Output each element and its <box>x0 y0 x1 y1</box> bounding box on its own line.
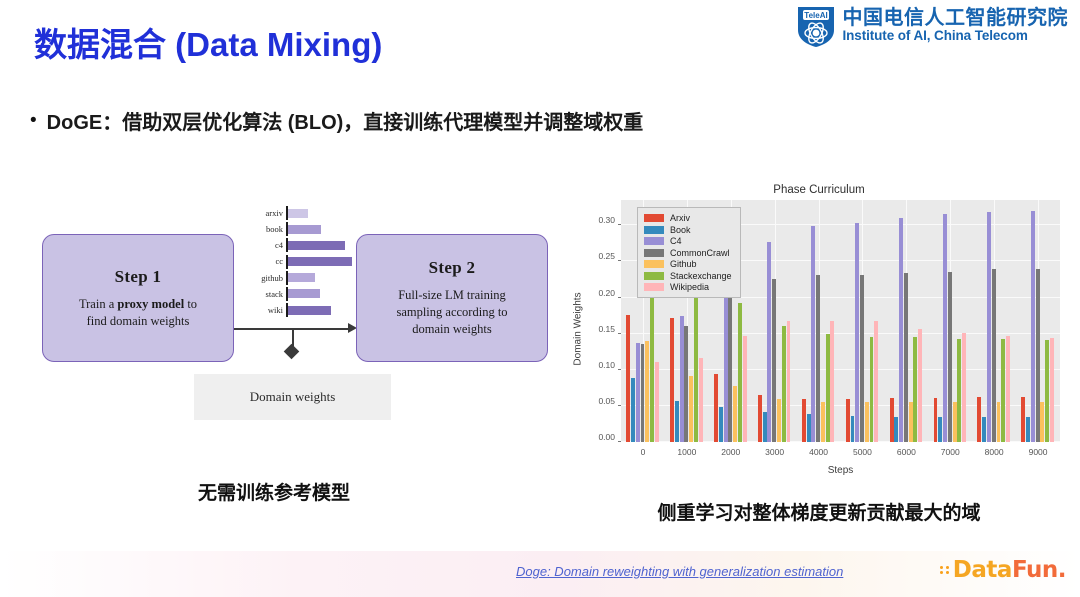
chart-bar <box>680 316 684 442</box>
chart-ytick-label: 0.05 <box>598 396 615 406</box>
mini-chart-row: github <box>241 271 353 285</box>
chart-legend: ArxivBookC4CommonCrawlGithubStackexchang… <box>637 207 741 298</box>
chart-bar <box>714 374 718 442</box>
chart-title: Phase Curriculum <box>566 184 1072 196</box>
chart-bar <box>645 341 649 442</box>
chart-legend-item: C4 <box>644 236 732 246</box>
mini-chart-row: cc <box>241 255 353 269</box>
chart-bar <box>957 339 961 442</box>
chart-legend-swatch <box>644 283 664 291</box>
mini-chart-label: c4 <box>241 241 286 250</box>
chart-bar-group <box>1016 200 1060 442</box>
step2-description: Full-size LM training sampling according… <box>386 287 517 338</box>
step2-line2: sampling according to <box>396 305 507 319</box>
chart-legend-label: Wikipedia <box>670 282 709 292</box>
chart-bar-group <box>884 200 928 442</box>
chart-xtick-label: 5000 <box>853 447 872 457</box>
chart-bar <box>962 333 966 442</box>
chart-bar <box>655 362 659 442</box>
step2-line1: Full-size LM training <box>398 288 506 302</box>
chart-xtick-label: 6000 <box>897 447 916 457</box>
chart-xtick-label: 4000 <box>809 447 828 457</box>
chart-ytick-label: 0.30 <box>598 215 615 225</box>
chart-xtick-label: 9000 <box>1029 447 1048 457</box>
chart-legend-item: Github <box>644 259 732 269</box>
chart-bar <box>860 275 864 442</box>
domain-weights-box: Domain weights <box>194 374 391 420</box>
brand-name-cn: 中国电信人工智能研究院 <box>843 8 1069 29</box>
chart-bar <box>636 343 640 442</box>
chart-bar <box>811 226 815 442</box>
chart-bar <box>1001 339 1005 442</box>
chart-bar <box>1006 336 1010 442</box>
chart-legend-label: Stackexchange <box>670 271 732 281</box>
chart-bar <box>846 399 850 442</box>
datafun-dots-icon <box>940 566 950 574</box>
chart-xtick-label: 7000 <box>941 447 960 457</box>
chart-xtick-label: 3000 <box>765 447 784 457</box>
chart-bar <box>733 386 737 442</box>
step1-title: Step 1 <box>115 267 162 287</box>
chart-ytick-label: 0.10 <box>598 360 615 370</box>
chart-plot-area: ArxivBookC4CommonCrawlGithubStackexchang… <box>621 200 1060 442</box>
chart-bar <box>904 273 908 442</box>
chart-bar-group <box>928 200 972 442</box>
chart-bar <box>1036 269 1040 442</box>
chart-bar <box>918 329 922 442</box>
chart-legend-swatch <box>644 260 664 268</box>
chart-legend-label: CommonCrawl <box>670 248 730 258</box>
mini-chart-row: book <box>241 222 353 236</box>
chart-bar <box>1050 338 1054 442</box>
chart-bar <box>743 336 747 442</box>
svg-text:TeleAI: TeleAI <box>804 11 827 20</box>
chart-ytick-label: 0.20 <box>598 288 615 298</box>
chart-bar <box>890 398 894 442</box>
brand-logo: TeleAI 中国电信人工智能研究院 Institute of AI, Chin… <box>796 4 1069 48</box>
chart-bar <box>631 378 635 442</box>
chart-bar <box>977 397 981 442</box>
chart-bar-group <box>753 200 797 442</box>
chart-legend-label: C4 <box>670 236 682 246</box>
chart-bar <box>1031 211 1035 442</box>
chart-bar <box>826 334 830 442</box>
mini-chart-label: cc <box>241 257 286 266</box>
chart-bar <box>870 337 874 442</box>
chart-bar <box>997 402 1001 442</box>
mini-chart-bar <box>288 225 321 234</box>
bullet-marker-icon: • <box>30 111 37 130</box>
chart-xtick-label: 8000 <box>985 447 1004 457</box>
chart-legend-swatch <box>644 214 664 222</box>
chart-bar <box>865 402 869 442</box>
chart-legend-item: Stackexchange <box>644 271 732 281</box>
chart-bar-group <box>841 200 885 442</box>
chart-bar <box>913 337 917 442</box>
step2-title: Step 2 <box>429 258 476 278</box>
datafun-logo: DataFun. <box>940 557 1066 583</box>
chart-bar <box>934 398 938 442</box>
chart-ytick-label: 0.00 <box>598 432 615 442</box>
mini-chart-bar <box>288 257 352 266</box>
chart-bar <box>738 303 742 442</box>
chart-legend-item: Wikipedia <box>644 282 732 292</box>
chart-legend-item: CommonCrawl <box>644 248 732 258</box>
chart-bar <box>763 412 767 442</box>
step1-box: Step 1 Train a proxy model to find domai… <box>42 234 234 362</box>
bullet-row: • DoGE：借助双层优化算法 (BLO)，直接训练代理模型并调整域权重 <box>30 106 643 135</box>
chart-legend-swatch <box>644 226 664 234</box>
footer-band: Doge: Domain reweighting with generaliza… <box>0 551 1080 597</box>
chart-legend-item: Book <box>644 225 732 235</box>
chart-bar <box>684 326 688 442</box>
bullet-text: DoGE：借助双层优化算法 (BLO)，直接训练代理模型并调整域权重 <box>47 106 644 135</box>
chart-bar <box>943 214 947 442</box>
chart-bar <box>909 402 913 442</box>
chart-xlabel: Steps <box>621 465 1060 476</box>
chart-bar <box>948 272 952 442</box>
connector-diamond-icon <box>284 344 300 360</box>
chart-legend-item: Arxiv <box>644 213 732 223</box>
mini-chart-label: github <box>241 274 286 283</box>
chart-bar <box>816 275 820 442</box>
chart-bar <box>855 223 859 442</box>
chart-legend-label: Book <box>670 225 691 235</box>
step1-line1c: to <box>184 297 197 311</box>
mini-chart-row: wiki <box>241 303 353 317</box>
chart-bar <box>694 280 698 442</box>
chart-bar <box>719 407 723 442</box>
step2-line3: domain weights <box>412 322 492 336</box>
chart-bar <box>1026 417 1030 442</box>
chart-bar <box>699 358 703 442</box>
chart-legend-label: Arxiv <box>670 213 690 223</box>
mini-chart-bar <box>288 289 321 298</box>
chart-bar <box>782 326 786 442</box>
chart-bar <box>953 402 957 442</box>
caption-right: 侧重学习对整体梯度更新贡献最大的域 <box>566 498 1072 525</box>
chart-bar <box>1040 402 1044 442</box>
mini-domain-weights-chart: arxivbookc4ccgithubstackwiki <box>241 206 353 324</box>
chart-legend-label: Github <box>670 259 697 269</box>
chart-bar <box>641 344 645 442</box>
chart-bar-group <box>972 200 1016 442</box>
mini-chart-row: c4 <box>241 238 353 252</box>
chart-bar-group <box>797 200 841 442</box>
mini-chart-bar <box>288 241 345 250</box>
chart-bar <box>874 321 878 442</box>
mini-chart-row: arxiv <box>241 206 353 220</box>
chart-xtick-label: 0 <box>641 447 646 457</box>
chart-bar <box>894 417 898 442</box>
chart-legend-swatch <box>644 237 664 245</box>
mini-chart-bar <box>288 273 315 282</box>
step1-description: Train a proxy model to find domain weigh… <box>69 296 207 330</box>
chart-ytick-label: 0.25 <box>598 251 615 261</box>
chart-bar <box>675 401 679 442</box>
brand-name-en: Institute of AI, China Telecom <box>843 29 1069 43</box>
page-title: 数据混合 (Data Mixing) <box>34 18 382 66</box>
chart-bar <box>772 279 776 442</box>
chart-bar <box>851 416 855 442</box>
chart-bar <box>938 417 942 442</box>
chart-xtick-label: 1000 <box>677 447 696 457</box>
chart-bar <box>728 296 732 442</box>
chart-bar <box>802 399 806 442</box>
chart-bar <box>626 315 630 442</box>
chart-bar <box>830 321 834 442</box>
mini-chart-row: stack <box>241 287 353 301</box>
mini-chart-label: wiki <box>241 306 286 315</box>
chart-bar <box>787 321 791 442</box>
mini-chart-bar <box>288 306 331 315</box>
chart-bar <box>758 395 762 442</box>
paper-reference-link[interactable]: Doge: Domain reweighting with generaliza… <box>516 564 843 579</box>
chart-legend-swatch <box>644 249 664 257</box>
mini-chart-bar <box>288 209 309 218</box>
datafun-text-b: Fun. <box>1012 557 1066 583</box>
step2-box: Step 2 Full-size LM training sampling ac… <box>356 234 548 362</box>
chart-bar <box>992 269 996 442</box>
chart-bar <box>689 376 693 442</box>
chart-bar <box>650 290 654 442</box>
chart-bar <box>670 318 674 442</box>
chart-ylabel: Domain Weights <box>573 254 584 404</box>
chart-bar <box>767 242 771 442</box>
step1-line1a: Train a <box>79 297 117 311</box>
phase-curriculum-chart: Phase Curriculum Domain Weights ArxivBoo… <box>566 176 1072 482</box>
chart-bar <box>1045 340 1049 442</box>
teleai-shield-icon: TeleAI <box>796 4 836 48</box>
mini-chart-label: book <box>241 225 286 234</box>
pipeline-diagram: Step 1 Train a proxy model to find domai… <box>30 178 550 468</box>
chart-xtick-label: 2000 <box>721 447 740 457</box>
mini-chart-label: arxiv <box>241 209 286 218</box>
mini-chart-label: stack <box>241 290 286 299</box>
step1-line2: find domain weights <box>87 314 190 328</box>
chart-bar <box>1021 397 1025 443</box>
step1-emphasis: proxy model <box>117 297 184 311</box>
chart-bar <box>777 399 781 442</box>
chart-bar <box>982 417 986 442</box>
datafun-text-a: Data <box>953 557 1012 583</box>
chart-bar <box>987 212 991 442</box>
chart-bar <box>821 402 825 442</box>
chart-bar <box>807 414 811 442</box>
caption-left: 无需训练参考模型 <box>198 478 350 505</box>
chart-bar <box>899 218 903 442</box>
chart-legend-swatch <box>644 272 664 280</box>
chart-ytick-label: 0.15 <box>598 324 615 334</box>
